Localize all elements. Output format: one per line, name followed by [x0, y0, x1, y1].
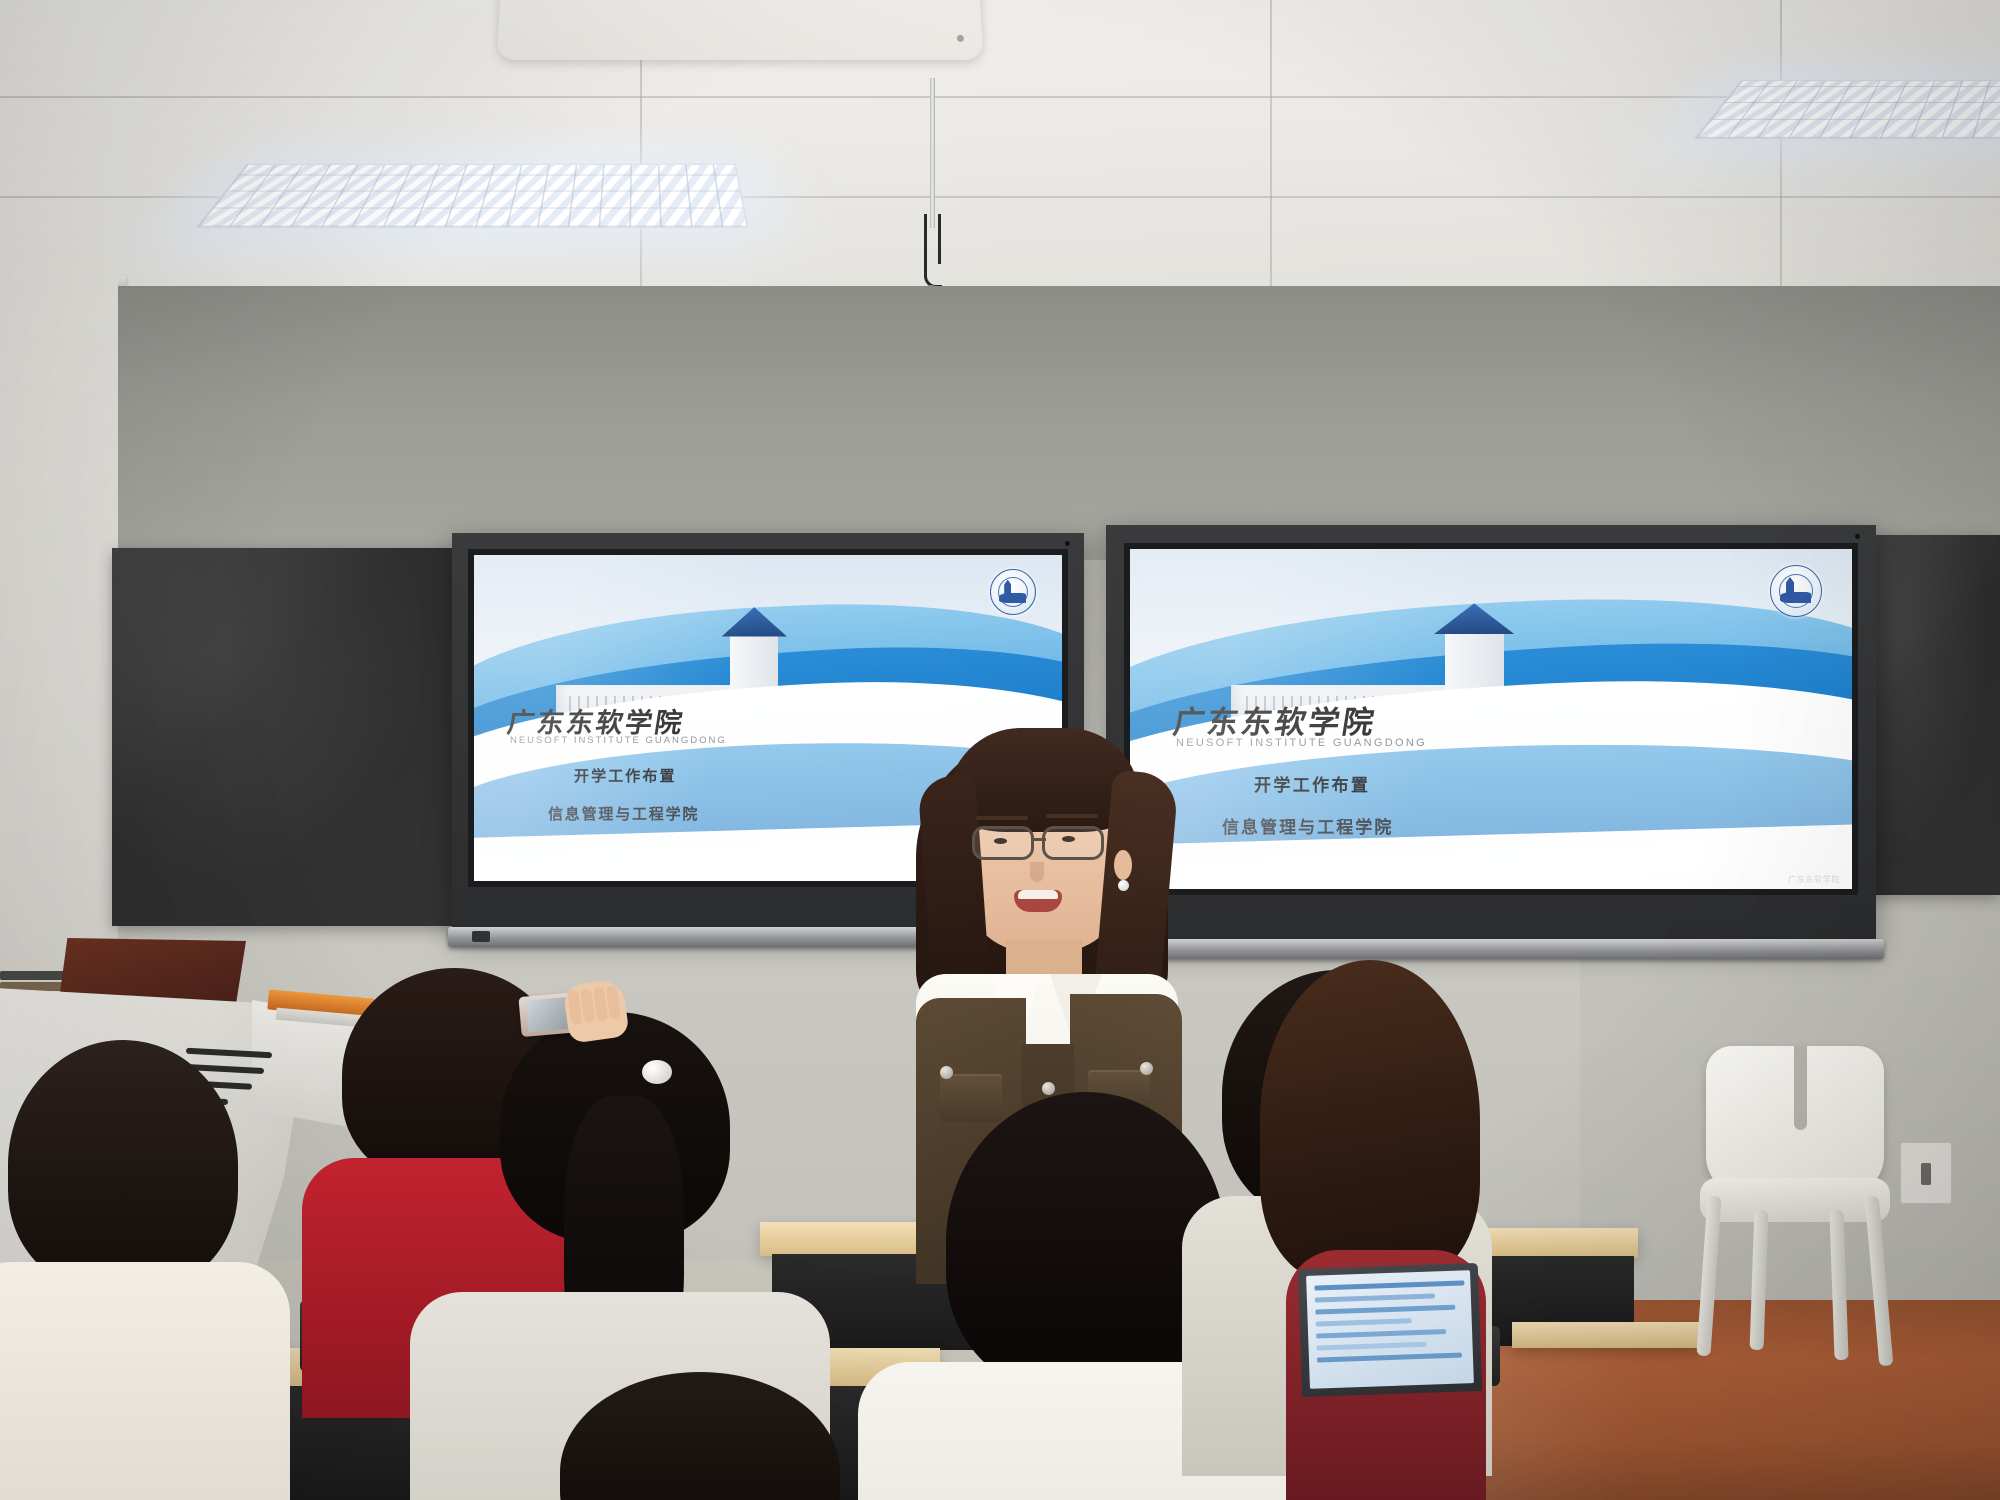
slide-line-1-2: 开学工作布置	[1254, 771, 1370, 796]
microphone-cable-2	[938, 214, 941, 264]
eyeglasses-right-lens	[1042, 826, 1104, 860]
slide-line-2: 信息管理与工程学院	[548, 803, 699, 824]
slide-right: 广东东软学院 NEUSOFT INSTITUTE GUANGDONG 开学工作布…	[1130, 549, 1852, 889]
hair-scrunchie-icon	[642, 1060, 672, 1084]
power-outlet-icon[interactable]	[1900, 1142, 1952, 1204]
right-display[interactable]: 广东东软学院 NEUSOFT INSTITUTE GUANGDONG 开学工作布…	[1106, 525, 1876, 945]
blackboard-panel-left	[112, 548, 460, 926]
slide-line-2-2: 信息管理与工程学院	[1222, 813, 1393, 838]
eyeglasses-left-lens	[972, 826, 1034, 860]
side-desk	[1512, 1322, 1702, 1348]
slide-line-1: 开学工作布置	[574, 765, 677, 786]
school-seal-icon	[990, 569, 1036, 615]
school-seal-icon-2	[1770, 565, 1822, 617]
white-plastic-chair[interactable]	[1700, 1046, 1890, 1356]
slide-institution-en: NEUSOFT INSTITUTE GUANGDONG	[510, 735, 727, 746]
ceiling-light-panel-left	[195, 164, 749, 229]
classroom-scene: 广东东软学院 NEUSOFT INSTITUTE GUANGDONG 开学工作布…	[0, 0, 2000, 1500]
slide-institution-en-2: NEUSOFT INSTITUTE GUANGDONG	[1176, 737, 1427, 749]
ac-cassette-vent-icon	[497, 0, 984, 60]
pearl-earring-icon	[1118, 880, 1129, 891]
ceiling-light-panel-right	[1693, 80, 2000, 139]
ceiling-microphone-rod	[930, 78, 935, 228]
slide-watermark-2: 广东东软学院	[1788, 874, 1840, 885]
right-display-pen-tray[interactable]	[1100, 939, 1884, 959]
student-laptop[interactable]	[1298, 1263, 1482, 1397]
ceiling	[0, 0, 2000, 292]
blackboard-panel-right	[1860, 535, 2000, 895]
left-wall-panel	[0, 250, 118, 1020]
